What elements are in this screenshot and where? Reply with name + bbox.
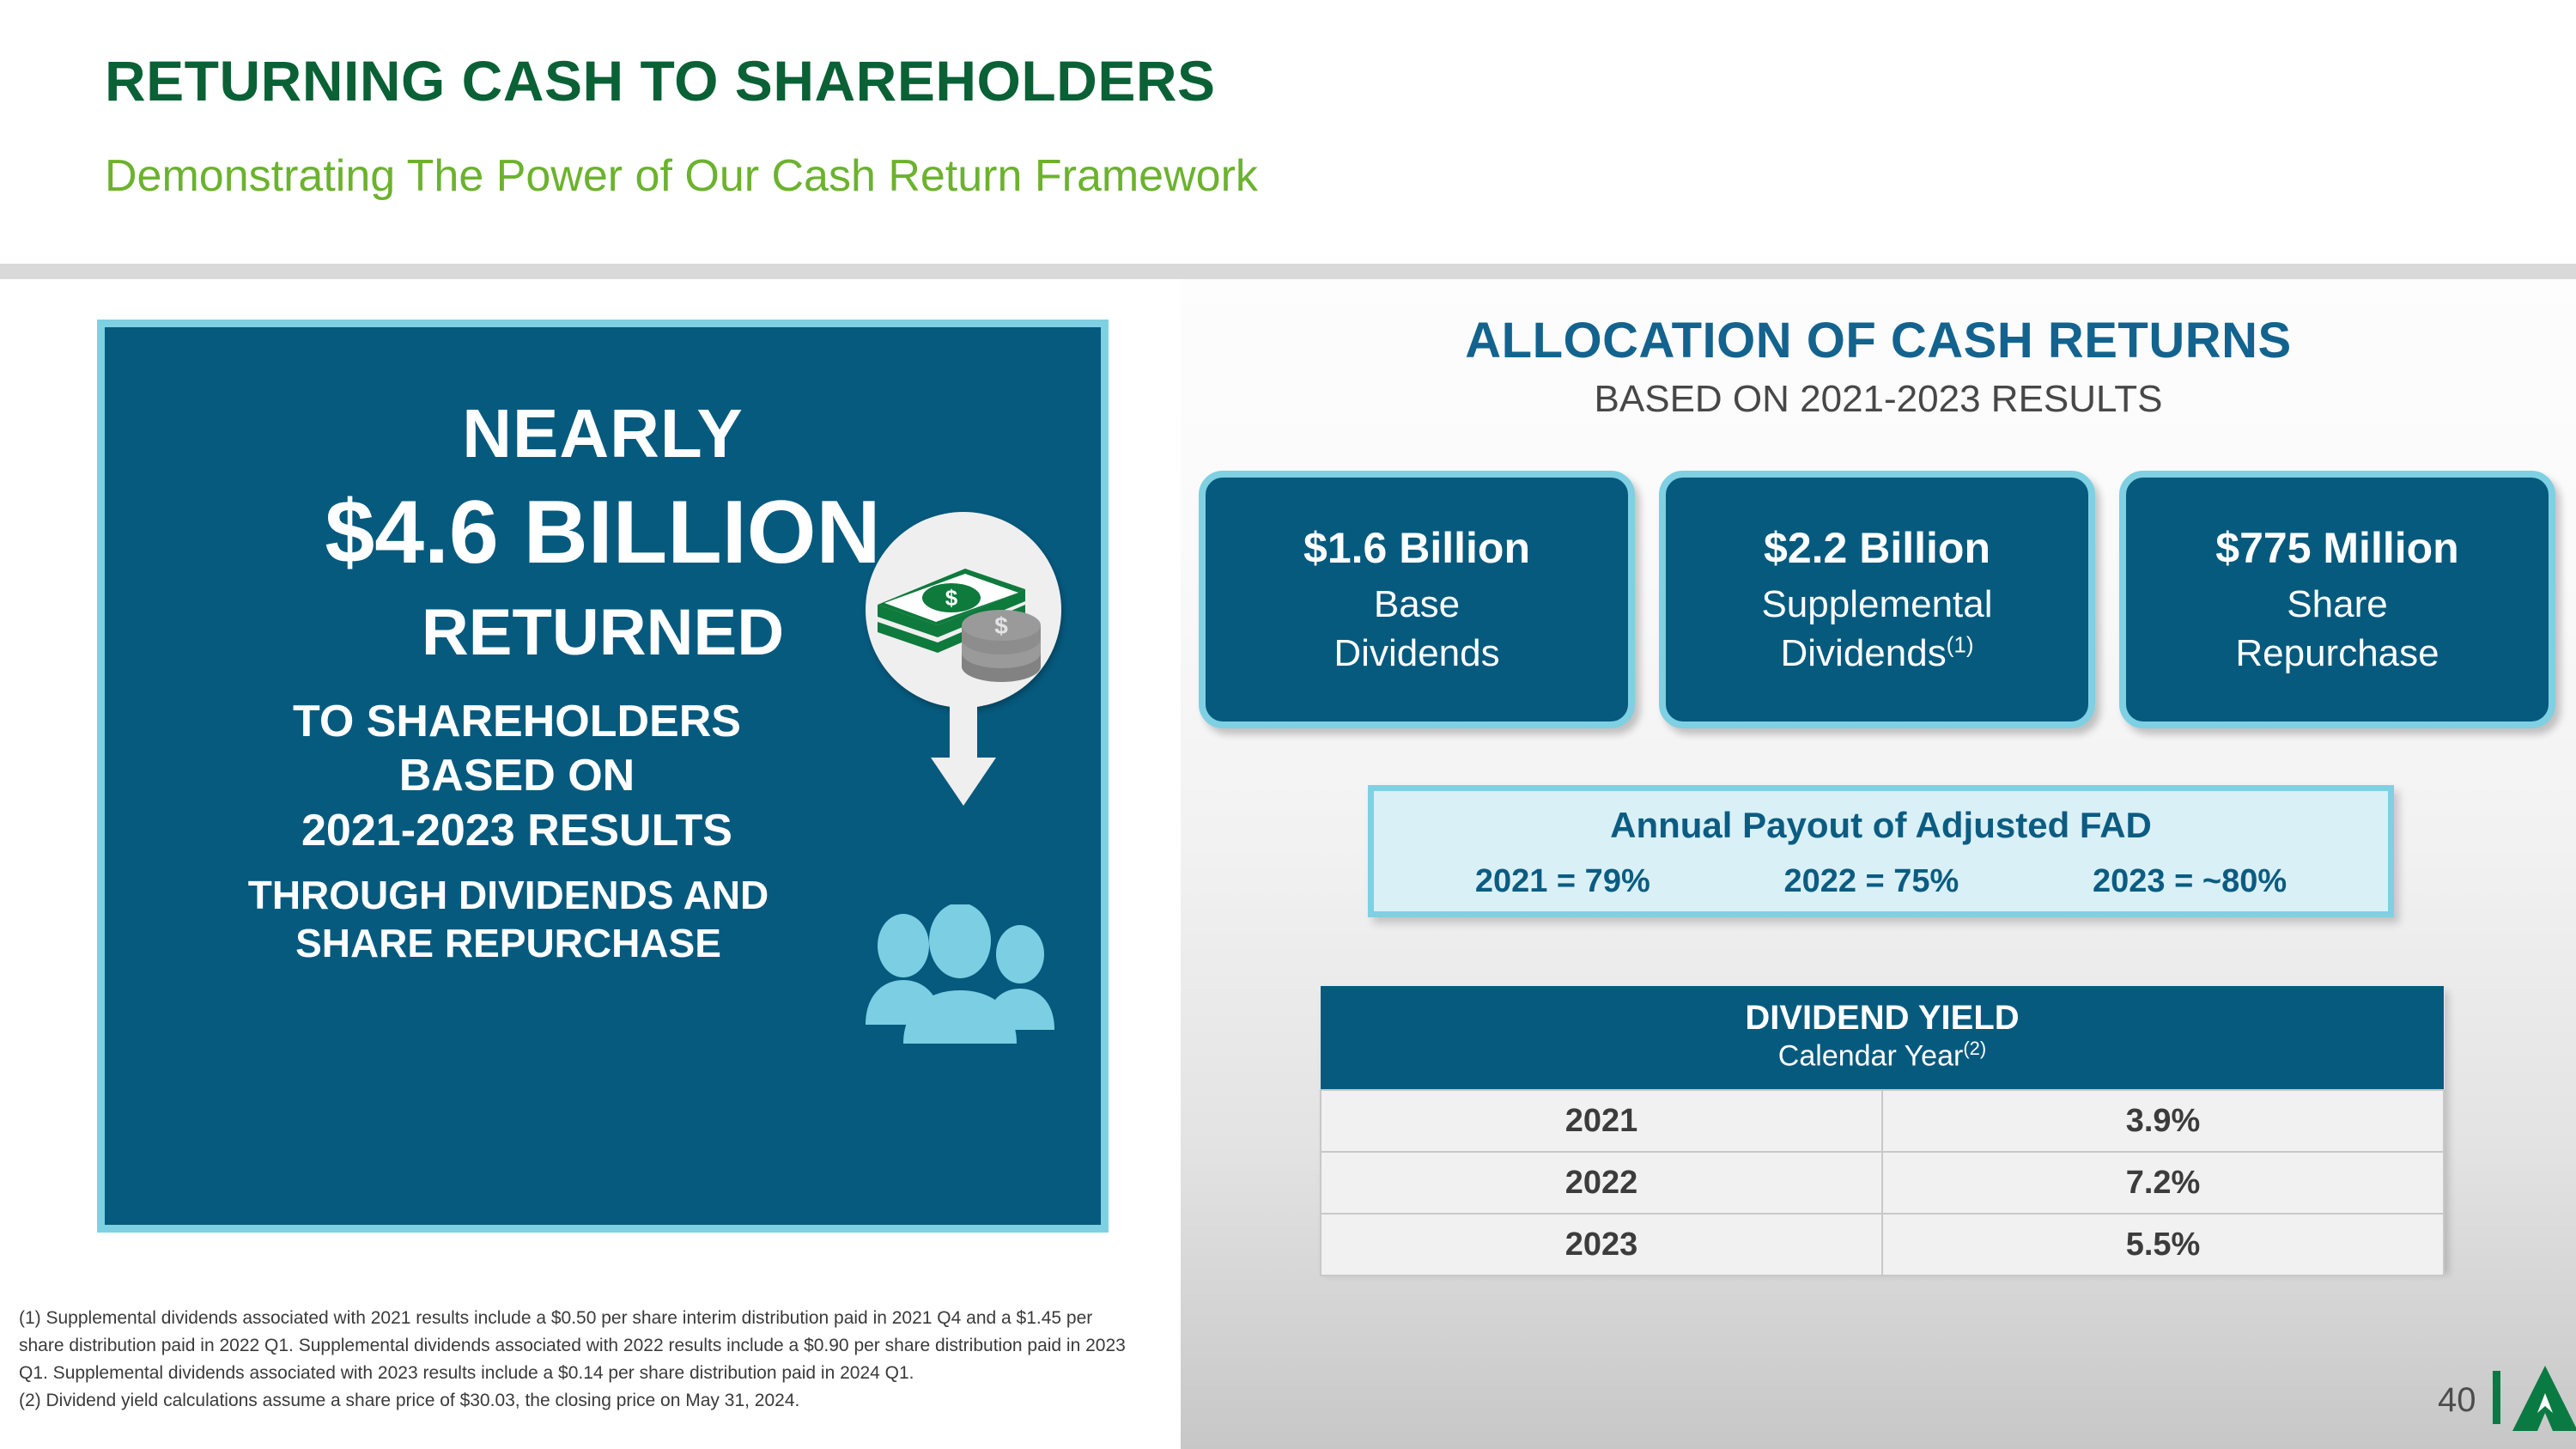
card-line-1: Share xyxy=(2287,581,2387,629)
page-number-divider xyxy=(2493,1371,2500,1424)
page-number: 40 xyxy=(2438,1381,2476,1420)
payout-value-2022: 2022 = 75% xyxy=(1783,863,1959,900)
allocation-card-base-dividends[interactable]: $1.6 Billion Base Dividends xyxy=(1199,471,1635,728)
people-group-icon xyxy=(859,904,1065,1068)
table-cell-year: 2022 xyxy=(1321,1152,1882,1214)
svg-text:$: $ xyxy=(994,612,1008,639)
people-group-icon-svg xyxy=(859,904,1065,1068)
page-subtitle: Demonstrating The Power of Our Cash Retu… xyxy=(105,150,1258,202)
money-stack-icon: $ $ xyxy=(866,512,1061,708)
hero-detail: TO SHAREHOLDERS BASED ON 2021-2023 RESUL… xyxy=(156,695,878,858)
annual-payout-values: 2021 = 79% 2022 = 75% 2023 = ~80% xyxy=(1408,863,2354,900)
annual-payout-title: Annual Payout of Adjusted FAD xyxy=(1374,805,2388,846)
table-cell-yield: 7.2% xyxy=(1882,1152,2444,1214)
footnotes: (1) Supplemental dividends associated wi… xyxy=(19,1305,1135,1415)
header-divider xyxy=(0,264,2576,279)
table-body: 2021 3.9% 2022 7.2% 2023 5.5% xyxy=(1321,1090,2444,1275)
table-header-row: DIVIDEND YIELD Calendar Year(2) xyxy=(1321,986,2444,1090)
table-cell-yield: 5.5% xyxy=(1882,1214,2444,1275)
hero-detail-line-3: 2021-2023 RESULTS xyxy=(156,804,878,858)
card-line-1: Base xyxy=(1374,581,1460,629)
table-row: 2023 5.5% xyxy=(1321,1214,2444,1275)
company-triangle-logo xyxy=(2512,1364,2576,1433)
table-cell-year: 2023 xyxy=(1321,1214,1882,1275)
table-row: 2021 3.9% xyxy=(1321,1090,2444,1152)
allocation-card-share-repurchase[interactable]: $775 Million Share Repurchase xyxy=(2119,471,2555,728)
hero-through-line-1: THROUGH DIVIDENDS AND xyxy=(139,871,878,919)
allocation-cards: $1.6 Billion Base Dividends $2.2 Billion… xyxy=(1199,471,2555,728)
footnote-2: (2) Dividend yield calculations assume a… xyxy=(19,1387,1135,1415)
allocation-subtitle: BASED ON 2021-2023 RESULTS xyxy=(1181,378,2576,421)
table-cell-yield: 3.9% xyxy=(1882,1090,2444,1152)
card-line-2-text: Dividends xyxy=(1781,632,1947,674)
hero-detail-line-1: TO SHAREHOLDERS xyxy=(156,695,878,749)
card-line-2: Dividends(1) xyxy=(1781,630,1974,678)
down-arrow-icon xyxy=(929,696,998,807)
hero-through-line-2: SHARE REPURCHASE xyxy=(139,919,878,967)
table-footnote-ref: (2) xyxy=(1963,1038,1986,1059)
allocation-card-supplemental-dividends[interactable]: $2.2 Billion Supplemental Dividends(1) xyxy=(1659,471,2095,728)
table-subtitle-text: Calendar Year xyxy=(1778,1039,1964,1072)
dividend-yield-table-element: DIVIDEND YIELD Calendar Year(2) 2021 3.9… xyxy=(1320,986,2445,1276)
annual-payout-box: Annual Payout of Adjusted FAD 2021 = 79%… xyxy=(1368,785,2394,917)
hero-detail-line-2: BASED ON xyxy=(156,749,878,803)
payout-value-2021: 2021 = 79% xyxy=(1475,863,1650,900)
card-line-2: Dividends xyxy=(1334,630,1499,678)
table-cell-year: 2021 xyxy=(1321,1090,1882,1152)
card-line-1: Supplemental xyxy=(1761,581,1992,629)
company-triangle-logo-svg xyxy=(2512,1364,2576,1433)
card-amount: $775 Million xyxy=(2215,525,2458,572)
slide: RETURNING CASH TO SHAREHOLDERS Demonstra… xyxy=(0,0,2576,1449)
footnote-1: (1) Supplemental dividends associated wi… xyxy=(19,1305,1135,1387)
table-head: DIVIDEND YIELD Calendar Year(2) xyxy=(1321,986,2444,1090)
card-line-2-text: Dividends xyxy=(1334,632,1499,674)
card-amount: $2.2 Billion xyxy=(1764,525,1990,572)
page-title: RETURNING CASH TO SHAREHOLDERS xyxy=(105,48,1216,113)
allocation-title: ALLOCATION OF CASH RETURNS xyxy=(1181,312,2576,369)
table-subtitle: Calendar Year(2) xyxy=(1321,1038,2444,1074)
dividend-yield-table: DIVIDEND YIELD Calendar Year(2) 2021 3.9… xyxy=(1320,986,2445,1269)
card-footnote-ref: (1) xyxy=(1947,631,1974,657)
svg-text:$: $ xyxy=(945,585,958,611)
card-line-2-text: Repurchase xyxy=(2235,632,2439,674)
card-line-2: Repurchase xyxy=(2235,630,2439,678)
card-amount: $1.6 Billion xyxy=(1303,525,1530,572)
down-arrow-icon-svg xyxy=(929,696,998,807)
payout-value-2023: 2023 = ~80% xyxy=(2093,863,2287,900)
money-stack-icon-svg: $ $ xyxy=(866,512,1061,708)
hero-nearly-label: NEARLY xyxy=(105,394,1101,473)
table-title: DIVIDEND YIELD xyxy=(1321,998,2444,1038)
hero-through-text: THROUGH DIVIDENDS AND SHARE REPURCHASE xyxy=(139,871,878,967)
table-header-cell: DIVIDEND YIELD Calendar Year(2) xyxy=(1321,986,2444,1090)
table-row: 2022 7.2% xyxy=(1321,1152,2444,1214)
